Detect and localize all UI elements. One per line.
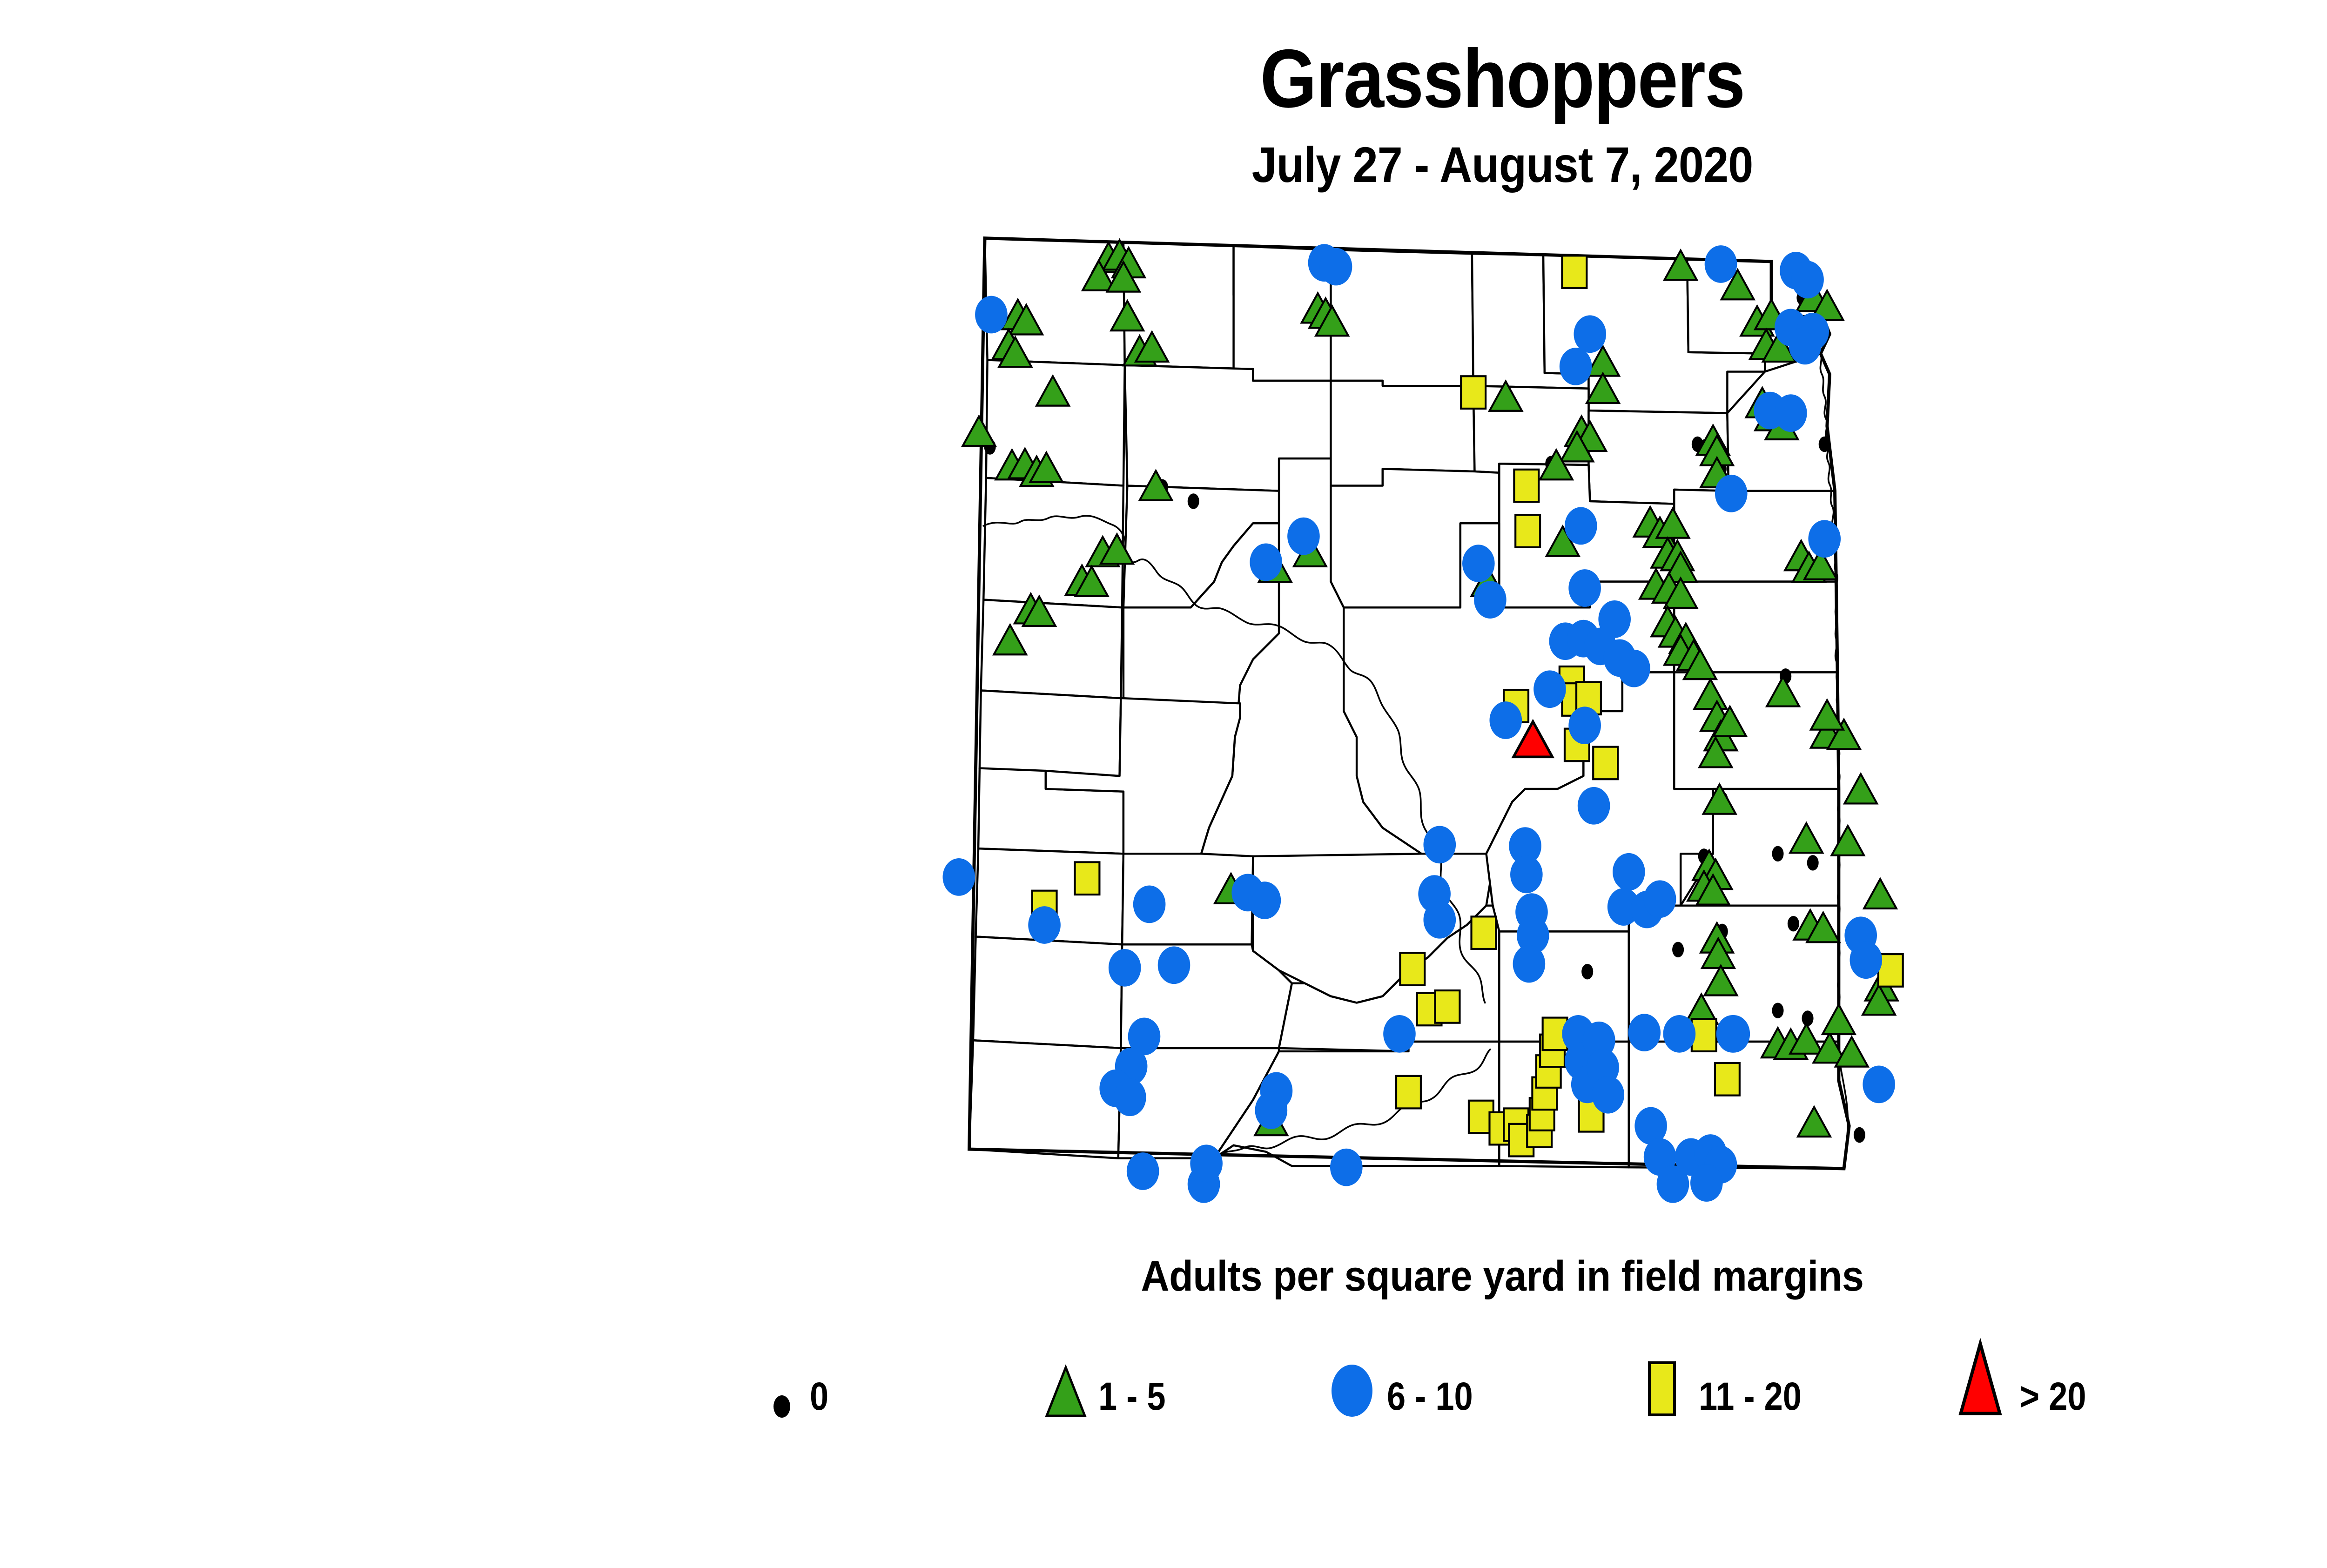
- survey-marker: [1802, 1010, 1814, 1026]
- dot-marker-icon: [754, 1340, 810, 1420]
- survey-marker: [1663, 1015, 1696, 1053]
- survey-marker: [1075, 862, 1100, 895]
- survey-marker: [1188, 493, 1199, 509]
- survey-marker: [1472, 916, 1496, 949]
- survey-marker: [1578, 787, 1610, 825]
- survey-marker: [1672, 942, 1684, 957]
- survey-marker: [1854, 1127, 1865, 1143]
- survey-marker: [1850, 941, 1883, 979]
- legend-label-4: > 20: [2020, 1377, 2086, 1416]
- survey-marker: [1461, 376, 1486, 409]
- square-marker-icon: [1624, 1340, 1699, 1420]
- legend: 0 1 - 5 6 - 10 11 - 20 > 20: [754, 1326, 2290, 1420]
- survey-marker: [1613, 853, 1645, 891]
- red-triangle-marker-icon: [1941, 1340, 2020, 1420]
- survey-marker: [1628, 1014, 1661, 1051]
- survey-marker: [1568, 569, 1601, 607]
- survey-marker: [1489, 701, 1522, 739]
- survey-marker: [1690, 1164, 1723, 1202]
- survey-marker: [1568, 707, 1601, 744]
- survey-marker: [1474, 581, 1506, 619]
- legend-item-1[interactable]: 1 - 5: [1033, 1340, 1317, 1420]
- survey-marker: [1562, 256, 1587, 288]
- survey-marker: [943, 858, 975, 896]
- north-dakota-map: [619, 219, 2276, 1210]
- survey-marker: [975, 296, 1008, 334]
- survey-marker: [1788, 916, 1799, 931]
- survey-marker: [1791, 261, 1824, 298]
- survey-marker: [1789, 327, 1822, 364]
- grasshopper-survey-map-page: Grasshoppers July 27 - August 7, 2020: [0, 0, 2327, 1568]
- survey-marker: [1807, 855, 1819, 870]
- survey-marker: [1844, 774, 1877, 803]
- north-dakota-map-svg: [619, 219, 2276, 1210]
- survey-marker: [1515, 515, 1540, 547]
- survey-marker: [1565, 507, 1597, 545]
- survey-marker: [1423, 826, 1456, 863]
- survey-marker: [1513, 945, 1546, 983]
- survey-marker: [1127, 1152, 1159, 1190]
- survey-marker: [1715, 475, 1748, 512]
- survey-marker: [1775, 394, 1807, 432]
- survey-marker: [1028, 906, 1061, 944]
- survey-marker: [1772, 1003, 1783, 1018]
- survey-marker: [1581, 964, 1593, 979]
- survey-marker: [1250, 543, 1282, 581]
- survey-marker: [1598, 600, 1631, 638]
- survey-marker: [1592, 1076, 1624, 1114]
- survey-marker: [1533, 670, 1566, 708]
- survey-marker: [1593, 747, 1618, 780]
- survey-marker: [1190, 1144, 1223, 1182]
- survey-marker: [1864, 879, 1897, 908]
- survey-marker: [1383, 1015, 1416, 1053]
- survey-marker: [1462, 545, 1495, 582]
- survey-marker: [1560, 348, 1592, 385]
- legend-item-3[interactable]: 11 - 20: [1624, 1340, 1941, 1420]
- survey-marker: [1644, 880, 1676, 918]
- survey-marker: [1400, 953, 1425, 985]
- survey-marker: [1819, 437, 1830, 452]
- survey-marker: [1715, 1063, 1740, 1096]
- survey-marker: [1249, 882, 1281, 919]
- survey-marker: [1158, 946, 1190, 984]
- survey-marker: [1618, 650, 1650, 687]
- survey-marker: [1705, 245, 1737, 283]
- legend-label-0: 0: [810, 1377, 828, 1416]
- circle-marker-icon: [1317, 1340, 1387, 1420]
- survey-marker: [1109, 949, 1141, 987]
- survey-marker: [1396, 1076, 1421, 1109]
- page-subtitle: July 27 - August 7, 2020: [150, 140, 2327, 190]
- page-title: Grasshoppers: [180, 37, 2327, 120]
- survey-marker: [1330, 1149, 1363, 1186]
- survey-marker: [1863, 1066, 1895, 1104]
- survey-marker: [1423, 901, 1456, 939]
- survey-marker: [1808, 520, 1841, 558]
- survey-marker: [1114, 1078, 1146, 1116]
- survey-marker: [1287, 518, 1320, 555]
- legend-item-2[interactable]: 6 - 10: [1317, 1340, 1624, 1420]
- legend-item-4[interactable]: > 20: [1941, 1340, 2220, 1420]
- survey-marker: [1320, 248, 1352, 286]
- survey-marker: [1510, 855, 1543, 893]
- legend-label-2: 6 - 10: [1387, 1377, 1473, 1416]
- legend-caption: Adults per square yard in field margins: [120, 1252, 2327, 1301]
- survey-marker: [1435, 990, 1460, 1023]
- legend-label-1: 1 - 5: [1098, 1377, 1166, 1416]
- triangle-marker-icon: [1033, 1340, 1098, 1420]
- survey-marker: [1255, 1091, 1288, 1129]
- title-block: Grasshoppers July 27 - August 7, 2020: [0, 37, 2327, 190]
- survey-marker: [1718, 1015, 1750, 1053]
- survey-marker: [1514, 470, 1539, 502]
- legend-label-3: 11 - 20: [1699, 1377, 1802, 1416]
- legend-item-0[interactable]: 0: [754, 1340, 1033, 1420]
- survey-marker: [1133, 886, 1166, 923]
- survey-marker: [1574, 315, 1606, 353]
- survey-marker: [1772, 846, 1783, 861]
